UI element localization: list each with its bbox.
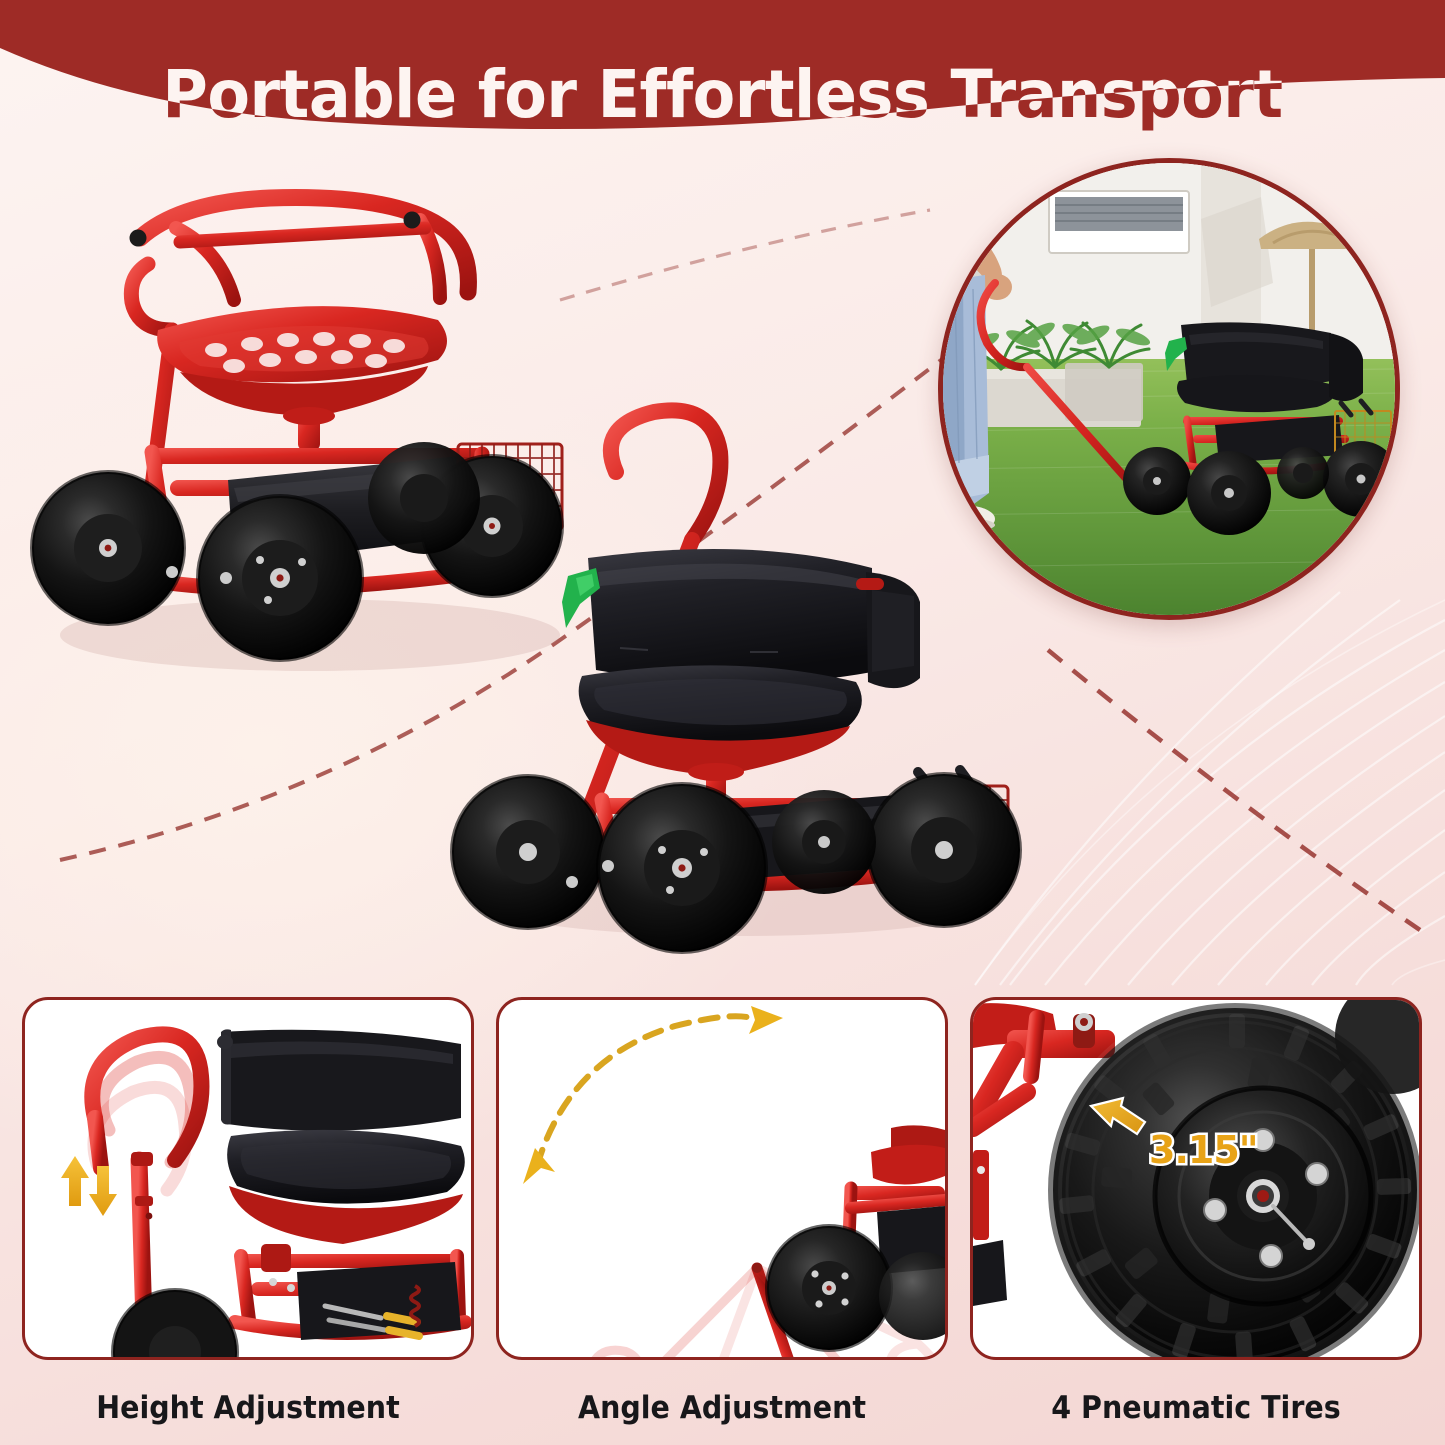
feature-panel-angle-adjustment [496,997,948,1360]
feature-panel-height-adjustment [22,997,474,1360]
page-title-knockout-layer: Portable for Effortless Transport [0,47,1445,147]
lifestyle-circle-inset [938,158,1400,620]
tire-front-left [32,472,184,624]
angle-arc-arrow-icon [523,1006,783,1184]
tire-rear-left [772,790,876,894]
tire-rear-right [868,774,1020,926]
feature-caption-pneumatic-tires: 4 Pneumatic Tires [988,1390,1404,1426]
poster-canvas: Portable for Effortless Transport Portab… [0,0,1445,1445]
tire-measurement-label: 3.15" [1149,1128,1258,1172]
feature-panel-pneumatic-tires: 3.15" [970,997,1422,1360]
feature-caption-height-adjustment: Height Adjustment [40,1390,456,1426]
tire-front-right [598,784,766,952]
feature-caption-angle-adjustment: Angle Adjustment [514,1390,930,1426]
tire-front-left [452,776,604,928]
page-title: Portable for Effortless Transport Portab… [0,47,1445,147]
